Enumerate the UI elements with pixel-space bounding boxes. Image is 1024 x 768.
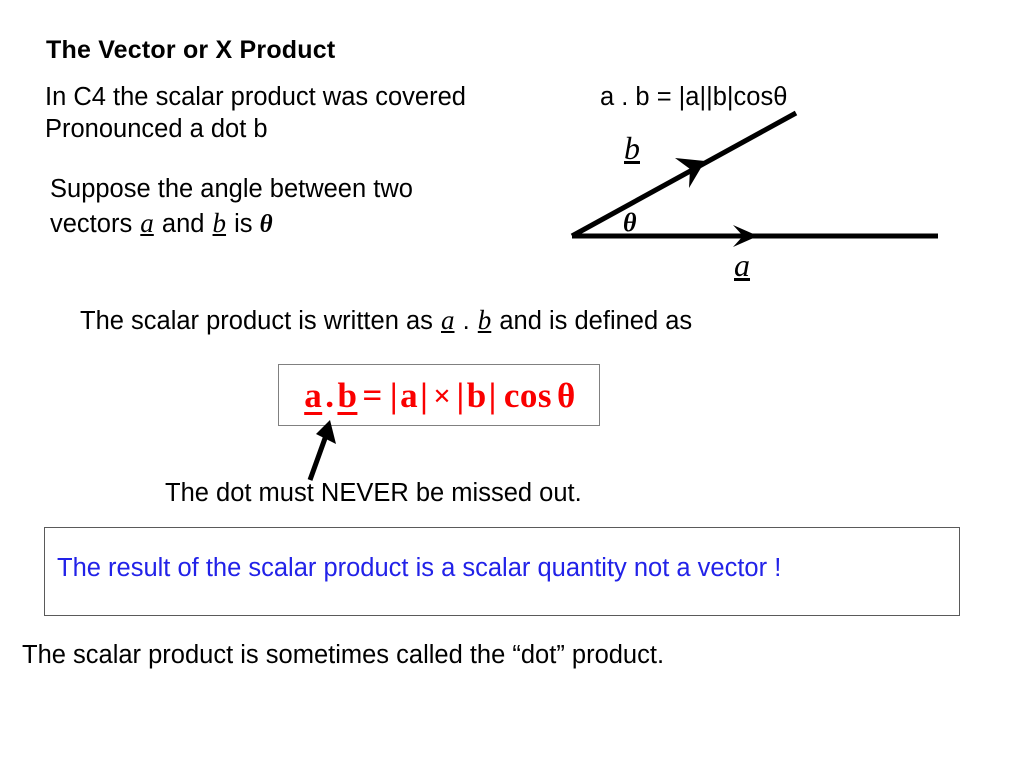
formula-bar-open-2: | — [454, 376, 466, 416]
vector-letter-b: b — [212, 208, 228, 238]
page-title: The Vector or X Product — [46, 36, 335, 65]
result-callout-box: The result of the scalar product is a sc… — [44, 527, 960, 616]
definition-suffix: and is defined as — [499, 307, 692, 335]
intro-line-pronounced: Pronounced a dot b — [45, 114, 268, 144]
formula-bar-open-1: | — [388, 376, 400, 416]
definition-dot: . — [463, 307, 470, 335]
diagram-label-b: b — [624, 130, 640, 167]
suppose-mid: and — [162, 210, 205, 238]
definition-prefix: The scalar product is written as — [80, 307, 433, 335]
formula-bar-close-1: | — [418, 376, 430, 416]
formula-magnitude-b: b — [467, 376, 487, 416]
dot-warning-caption: The dot must NEVER be missed out. — [165, 478, 582, 508]
formula-lhs-a: a — [304, 376, 322, 416]
vector-diagram — [555, 95, 955, 295]
diagram-label-theta: θ — [623, 208, 637, 238]
suppose-line-2: vectors a and b is θ — [50, 208, 273, 240]
theta-symbol: θ — [260, 211, 273, 238]
formula-bar-close-2: | — [487, 376, 499, 416]
vector-b-line — [572, 113, 796, 236]
slide-canvas: The Vector or X Product In C4 the scalar… — [0, 0, 1024, 768]
diagram-label-a: a — [734, 247, 750, 284]
formula-equals: = — [357, 376, 387, 416]
vector-letter-a: a — [139, 208, 155, 238]
result-callout-text: The result of the scalar product is a sc… — [57, 554, 781, 583]
formula-lhs-b: b — [337, 376, 357, 416]
suppose-prefix: vectors — [50, 210, 132, 238]
callout-arrow — [286, 414, 356, 484]
definition-vector-b: b — [477, 305, 493, 335]
formula-dot: . — [322, 376, 337, 416]
formula-times-symbol: × — [430, 378, 454, 414]
footer-note: The scalar product is sometimes called t… — [22, 640, 664, 670]
definition-line: The scalar product is written as a . b a… — [80, 305, 692, 337]
formula-theta: θ — [552, 376, 576, 416]
formula-magnitude-a: a — [400, 376, 418, 416]
intro-line-scalar-product-covered: In C4 the scalar product was covered — [45, 82, 466, 112]
suppose-suffix: is — [234, 210, 252, 238]
vector-b-arrowhead — [675, 158, 705, 188]
formula-cos: cos — [499, 376, 552, 416]
definition-vector-a: a — [440, 305, 456, 335]
suppose-line-1: Suppose the angle between two — [50, 174, 413, 204]
